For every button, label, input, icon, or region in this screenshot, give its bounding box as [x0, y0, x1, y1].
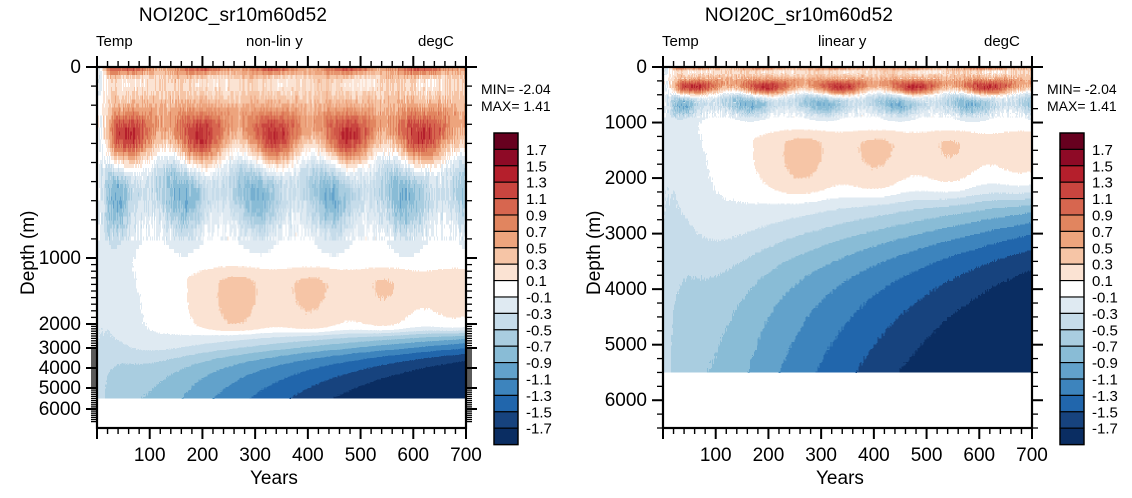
colorbar-band	[494, 379, 518, 395]
colorbar-tick-label: -1.1	[526, 372, 552, 389]
y-tick-label: 0	[636, 57, 647, 78]
min-value-label: MIN= -2.04	[481, 81, 551, 98]
colorbar-tick-label: 0.5	[526, 240, 547, 257]
y-axis-label: Depth (m)	[584, 211, 606, 295]
colorbar-band	[494, 199, 518, 215]
colorbar-band	[1060, 412, 1084, 428]
x-tick-label: 400	[292, 445, 324, 466]
colorbar-tick-label: 0.7	[526, 224, 547, 241]
x-tick-label: 100	[134, 445, 166, 466]
colorbar-tick-label: 1.1	[1092, 191, 1113, 208]
x-tick-label: 600	[397, 445, 429, 466]
colorbar-tick-label: -0.1	[1092, 290, 1118, 307]
colorbar-band	[494, 248, 518, 264]
colorbar-band	[494, 346, 518, 362]
colorbar-band	[494, 330, 518, 346]
colorbar-tick-label: 0.9	[526, 208, 547, 225]
colorbar-band	[1060, 199, 1084, 215]
plot-area-non-linear: 1002003004005006007000100020003000400050…	[0, 0, 566, 498]
x-tick-label: 300	[239, 445, 271, 466]
colorbar-tick-label: -0.5	[526, 322, 552, 339]
contour-field	[663, 67, 1033, 373]
x-tick-label: 100	[700, 445, 732, 466]
y-tick-label: 2000	[605, 168, 647, 189]
colorbar-band	[1060, 281, 1084, 297]
x-tick-label: 300	[805, 445, 837, 466]
colorbar-tick-label: 1.3	[1092, 175, 1113, 192]
colorbar-band	[494, 412, 518, 428]
x-tick-label: 500	[911, 445, 943, 466]
colorbar-tick-label: 0.7	[1092, 224, 1113, 241]
colorbar-band	[1060, 248, 1084, 264]
panel-subtitle-right: degC	[418, 33, 454, 50]
colorbar-tick-label: 0.1	[526, 273, 547, 290]
x-tick-label: 200	[753, 445, 785, 466]
x-tick-label: 500	[345, 445, 377, 466]
colorbar-band	[494, 428, 518, 444]
x-axis-label: Years	[250, 468, 298, 490]
colorbar-band	[494, 166, 518, 182]
colorbar-tick-label: -0.9	[526, 355, 552, 372]
colorbar-band	[1060, 182, 1084, 198]
colorbar-band	[494, 395, 518, 411]
colorbar-band	[1060, 395, 1084, 411]
x-tick-label: 200	[187, 445, 219, 466]
colorbar-tick-label: 1.1	[526, 191, 547, 208]
colorbar-band	[494, 182, 518, 198]
colorbar-tick-label: 1.5	[526, 158, 547, 175]
colorbar-band	[1060, 297, 1084, 313]
colorbar-band	[494, 215, 518, 231]
colorbar-tick-label: 0.9	[1092, 208, 1113, 225]
panel-subtitle-left: Temp	[662, 33, 699, 50]
colorbar-tick-label: 1.7	[1092, 142, 1113, 159]
y-tick-label: 1000	[39, 248, 81, 269]
contour-field	[97, 67, 467, 399]
colorbar-tick-label: 0.3	[1092, 257, 1113, 274]
colorbar-band	[1060, 428, 1084, 444]
panel-title: NOI20C_sr10m60d52	[0, 5, 466, 27]
colorbar-band	[1060, 215, 1084, 231]
colorbar-tick-label: -0.3	[1092, 306, 1118, 323]
figure-canvas: NOI20C_sr10m60d52 Temp non-lin y degC De…	[0, 0, 1132, 498]
colorbar-band	[1060, 149, 1084, 165]
colorbar-tick-label: 0.1	[1092, 273, 1113, 290]
colorbar-tick-label: -0.1	[526, 290, 552, 307]
colorbar[interactable]: 1.71.51.31.10.90.70.50.30.1-0.1-0.3-0.5-…	[1060, 133, 1118, 445]
plot-area-linear: 1002003004005006007000100020003000400050…	[566, 0, 1132, 498]
y-tick-label: 4000	[39, 358, 81, 379]
colorbar-band	[494, 149, 518, 165]
max-value-label: MAX= 1.41	[481, 98, 551, 115]
colorbar-band	[1060, 231, 1084, 247]
panel-subtitle-left: Temp	[96, 33, 133, 50]
y-tick-label: 0	[70, 57, 81, 78]
colorbar-tick-label: -0.3	[526, 306, 552, 323]
colorbar-tick-label: 1.7	[526, 142, 547, 159]
x-tick-label: 600	[963, 445, 995, 466]
colorbar-tick-label: -1.5	[526, 404, 552, 421]
colorbar-tick-label: -0.7	[526, 339, 552, 356]
colorbar-tick-label: -0.9	[1092, 355, 1118, 372]
colorbar-band	[494, 297, 518, 313]
x-tick-label: 400	[858, 445, 890, 466]
y-tick-label: 6000	[39, 399, 81, 420]
colorbar-tick-label: -0.5	[1092, 322, 1118, 339]
colorbar-tick-label: 1.3	[526, 175, 547, 192]
y-tick-label: 5000	[39, 378, 81, 399]
panel-subtitle-center: non-lin y	[246, 33, 303, 50]
colorbar-band	[1060, 346, 1084, 362]
y-tick-label: 1000	[605, 113, 647, 134]
colorbar-tick-label: -1.3	[526, 388, 552, 405]
colorbar-tick-label: -1.7	[526, 421, 552, 438]
panel-title: NOI20C_sr10m60d52	[566, 5, 1032, 27]
colorbar-band	[1060, 330, 1084, 346]
colorbar-tick-label: 0.5	[1092, 240, 1113, 257]
colorbar-tick-label: -1.1	[1092, 372, 1118, 389]
colorbar-band	[1060, 313, 1084, 329]
max-value-label: MAX= 1.41	[1047, 98, 1117, 115]
y-tick-label: 6000	[605, 390, 647, 411]
y-tick-label: 5000	[605, 335, 647, 356]
panel-subtitle-center: linear y	[818, 33, 866, 50]
y-tick-label: 3000	[39, 338, 81, 359]
colorbar-band	[494, 231, 518, 247]
colorbar[interactable]: 1.71.51.31.10.90.70.50.30.1-0.1-0.3-0.5-…	[494, 133, 552, 445]
colorbar-band	[494, 133, 518, 149]
colorbar-band	[1060, 379, 1084, 395]
colorbar-band	[1060, 264, 1084, 280]
panel-subtitle-right: degC	[984, 33, 1020, 50]
colorbar-tick-label: -1.7	[1092, 421, 1118, 438]
colorbar-tick-label: -0.7	[1092, 339, 1118, 356]
colorbar-band	[494, 264, 518, 280]
min-value-label: MIN= -2.04	[1047, 81, 1117, 98]
y-tick-label: 2000	[39, 314, 81, 335]
panel-non-linear: NOI20C_sr10m60d52 Temp non-lin y degC De…	[0, 0, 566, 498]
colorbar-band	[494, 313, 518, 329]
x-tick-label: 700	[1016, 445, 1048, 466]
colorbar-band	[494, 281, 518, 297]
colorbar-band	[494, 363, 518, 379]
colorbar-tick-label: -1.3	[1092, 388, 1118, 405]
x-axis-label: Years	[816, 468, 864, 490]
colorbar-band	[1060, 133, 1084, 149]
panel-linear: NOI20C_sr10m60d52 Temp linear y degC Dep…	[566, 0, 1132, 498]
y-axis-label: Depth (m)	[18, 211, 40, 295]
y-tick-label: 3000	[605, 224, 647, 245]
colorbar-tick-label: 0.3	[526, 257, 547, 274]
colorbar-tick-label: -1.5	[1092, 404, 1118, 421]
x-tick-label: 700	[450, 445, 482, 466]
colorbar-band	[1060, 363, 1084, 379]
colorbar-tick-label: 1.5	[1092, 158, 1113, 175]
y-tick-label: 4000	[605, 279, 647, 300]
colorbar-band	[1060, 166, 1084, 182]
